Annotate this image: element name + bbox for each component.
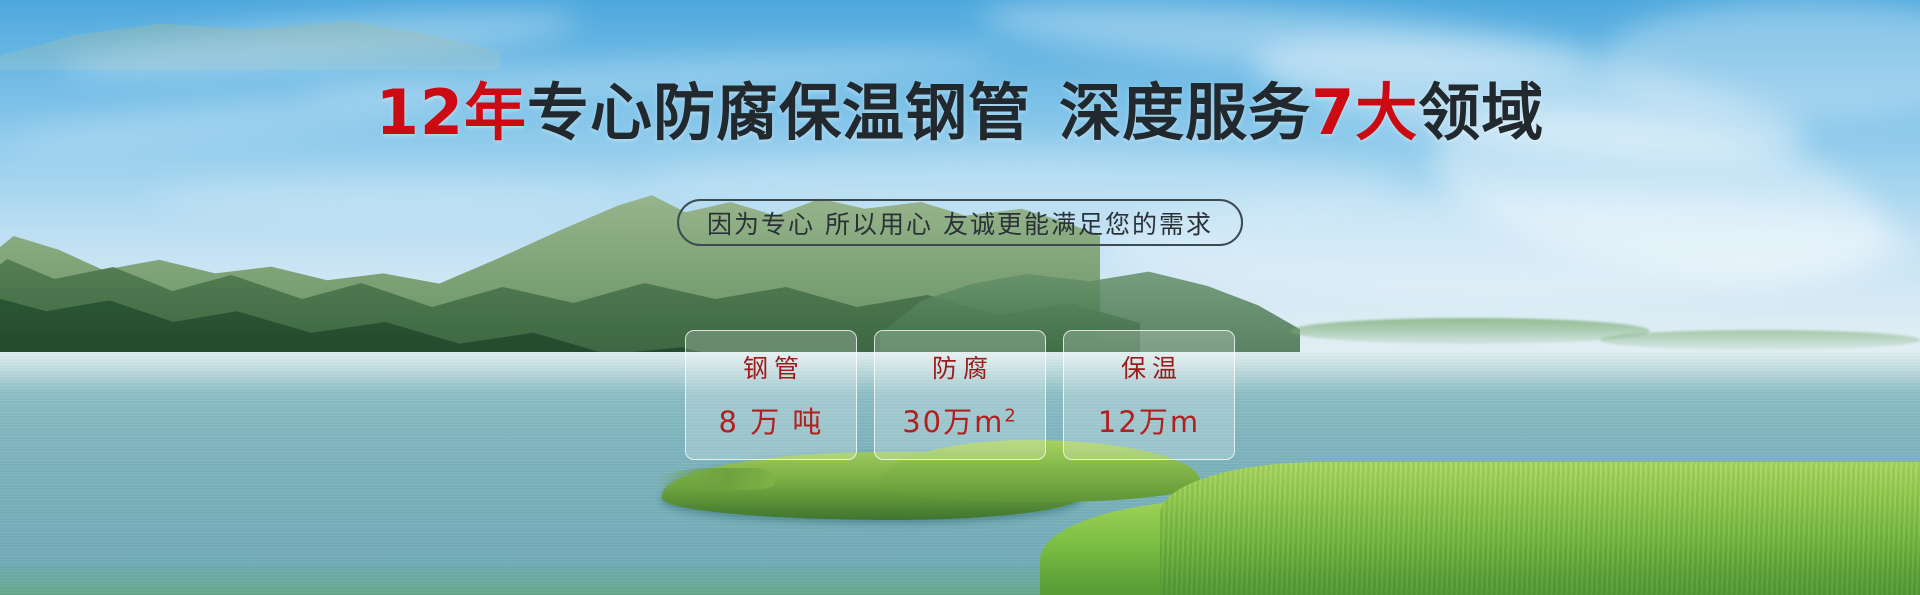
banner-subtitle-text: 因为专心 所以用心 友诚更能满足您的需求 xyxy=(707,205,1213,241)
grass-island-tip xyxy=(655,468,775,490)
stat-card-insulation: 保温 12万m xyxy=(1063,330,1235,460)
marsh-strip xyxy=(1290,318,1650,344)
banner-subtitle-pill: 因为专心 所以用心 友诚更能满足您的需求 xyxy=(677,199,1243,246)
headline-accent-fields: 7大 xyxy=(1311,76,1418,149)
stat-card-title: 钢管 xyxy=(737,349,805,385)
stat-card-anticorrosion: 防腐 30万m2 xyxy=(874,330,1046,460)
stat-card-title: 保温 xyxy=(1115,349,1183,385)
headline-accent-years: 12年 xyxy=(376,76,527,149)
headline-text-primary: 专心防腐保温钢管 xyxy=(527,76,1031,149)
banner-headline: 12年专心防腐保温钢管深度服务7大领域 xyxy=(0,82,1920,144)
hero-banner: 12年专心防腐保温钢管深度服务7大领域 因为专心 所以用心 友诚更能满足您的需求… xyxy=(0,0,1920,595)
stat-card-value: 8 万 吨 xyxy=(719,399,824,441)
stat-card-value-text: 30万m xyxy=(902,405,1004,439)
cloud-wisp-icon xyxy=(150,175,670,221)
headline-text-secondary: 深度服务 xyxy=(1059,76,1311,149)
stat-card-value: 30万m2 xyxy=(902,399,1018,441)
headline-text-tertiary: 领域 xyxy=(1418,76,1544,149)
marsh-strip xyxy=(1600,330,1920,350)
foreground-grass-edge xyxy=(0,560,1920,595)
stat-card-value-sup: 2 xyxy=(1004,405,1017,426)
stat-card-steel-pipe: 钢管 8 万 吨 xyxy=(685,330,857,460)
stat-card-value: 12万m xyxy=(1098,399,1200,441)
stat-card-title: 防腐 xyxy=(926,349,994,385)
stat-card-value-text: 8 万 吨 xyxy=(719,405,824,439)
stat-card-row: 钢管 8 万 吨 防腐 30万m2 保温 12万m xyxy=(685,330,1235,460)
stat-card-value-text: 12万m xyxy=(1098,405,1200,439)
